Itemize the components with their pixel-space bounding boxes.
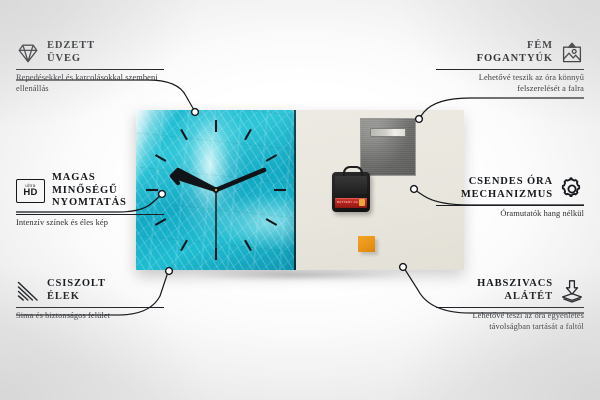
callout-title-line: MAGAS MINŐSÉGŰ [52,172,164,197]
callout-title-line: FOGANTYÚK [477,53,553,66]
callout-silent-mechanism: CSENDES ÓRA MECHANIZMUS Óramutatók hang … [436,176,584,220]
callout-description: Lehetővé teszik az óra könnyű felszerelé… [436,73,584,94]
callout-title: CSISZOLT ÉLEK [47,278,106,303]
callout-description: Repedésekkel és karcolásokkal szembeni e… [16,73,164,94]
product-image: BATTERY AA [136,110,464,270]
diamond-icon [16,41,40,65]
callout-title-line: HABSZIVACS [477,278,553,291]
callout-divider [16,214,164,215]
callout-title: EDZETT ÜVEG [47,40,95,65]
callout-high-quality-print: ultra HD MAGAS MINŐSÉGŰ NYOMTATÁS Intenz… [16,172,164,228]
ultra-hd-icon: ultra HD [16,179,45,203]
callout-title-line: ÜVEG [47,53,95,66]
hanger-slot [370,128,406,137]
callout-divider [16,307,164,308]
callout-divider [436,307,584,308]
callout-title-line: CSENDES ÓRA [461,176,553,189]
battery-terminal [359,199,365,206]
gear-icon [560,177,584,201]
callout-title-line: MECHANIZMUS [461,189,553,202]
callout-divider [436,205,584,206]
callout-divider [16,69,164,70]
hanging-picture-icon [560,41,584,65]
ultra-hd-main-text: HD [23,188,37,198]
mechanism-body [335,176,367,194]
callout-title: FÉM FOGANTYÚK [477,40,553,65]
callout-title-line: NYOMTATÁS [52,197,164,210]
battery-part: BATTERY AA [335,198,367,208]
callout-description: Intenzív színek és éles kép [16,218,164,229]
diagonal-lines-icon [16,279,40,303]
metal-hanger-part [360,118,416,176]
product-shadow [150,268,450,282]
clock-mechanism-part: BATTERY AA [332,172,370,212]
callout-description: Lehetővé teszi az óra egyenletes távolsá… [436,311,584,332]
callout-polished-edges: CSISZOLT ÉLEK Sima és biztonságos felüle… [16,278,164,322]
callout-metal-handles: FÉM FOGANTYÚK Lehetővé teszik az óra kön… [436,40,584,94]
callout-divider [436,69,584,70]
callout-title-line: ALÁTÉT [477,291,553,304]
callout-title: MAGAS MINŐSÉGŰ NYOMTATÁS [52,172,164,210]
callout-title-line: CSISZOLT [47,278,106,291]
callout-title-line: EDZETT [47,40,95,53]
callout-tempered-glass: EDZETT ÜVEG Repedésekkel és karcolásokka… [16,40,164,94]
callout-foam-backing: HABSZIVACS ALÁTÉT Lehetővé teszi az óra … [436,278,584,332]
callout-description: Sima és biztonságos felület [16,311,164,322]
foam-pad-part [358,236,375,252]
callout-title: CSENDES ÓRA MECHANIZMUS [461,176,553,201]
arrow-onto-pad-icon [560,279,584,303]
callout-title: HABSZIVACS ALÁTÉT [477,278,553,303]
callout-title-line: FÉM [477,40,553,53]
infographic-canvas: BATTERY AA [0,0,600,400]
callout-description: Óramutatók hang nélkül [436,209,584,220]
callout-title-line: ÉLEK [47,291,106,304]
battery-label: BATTERY AA [337,200,358,205]
